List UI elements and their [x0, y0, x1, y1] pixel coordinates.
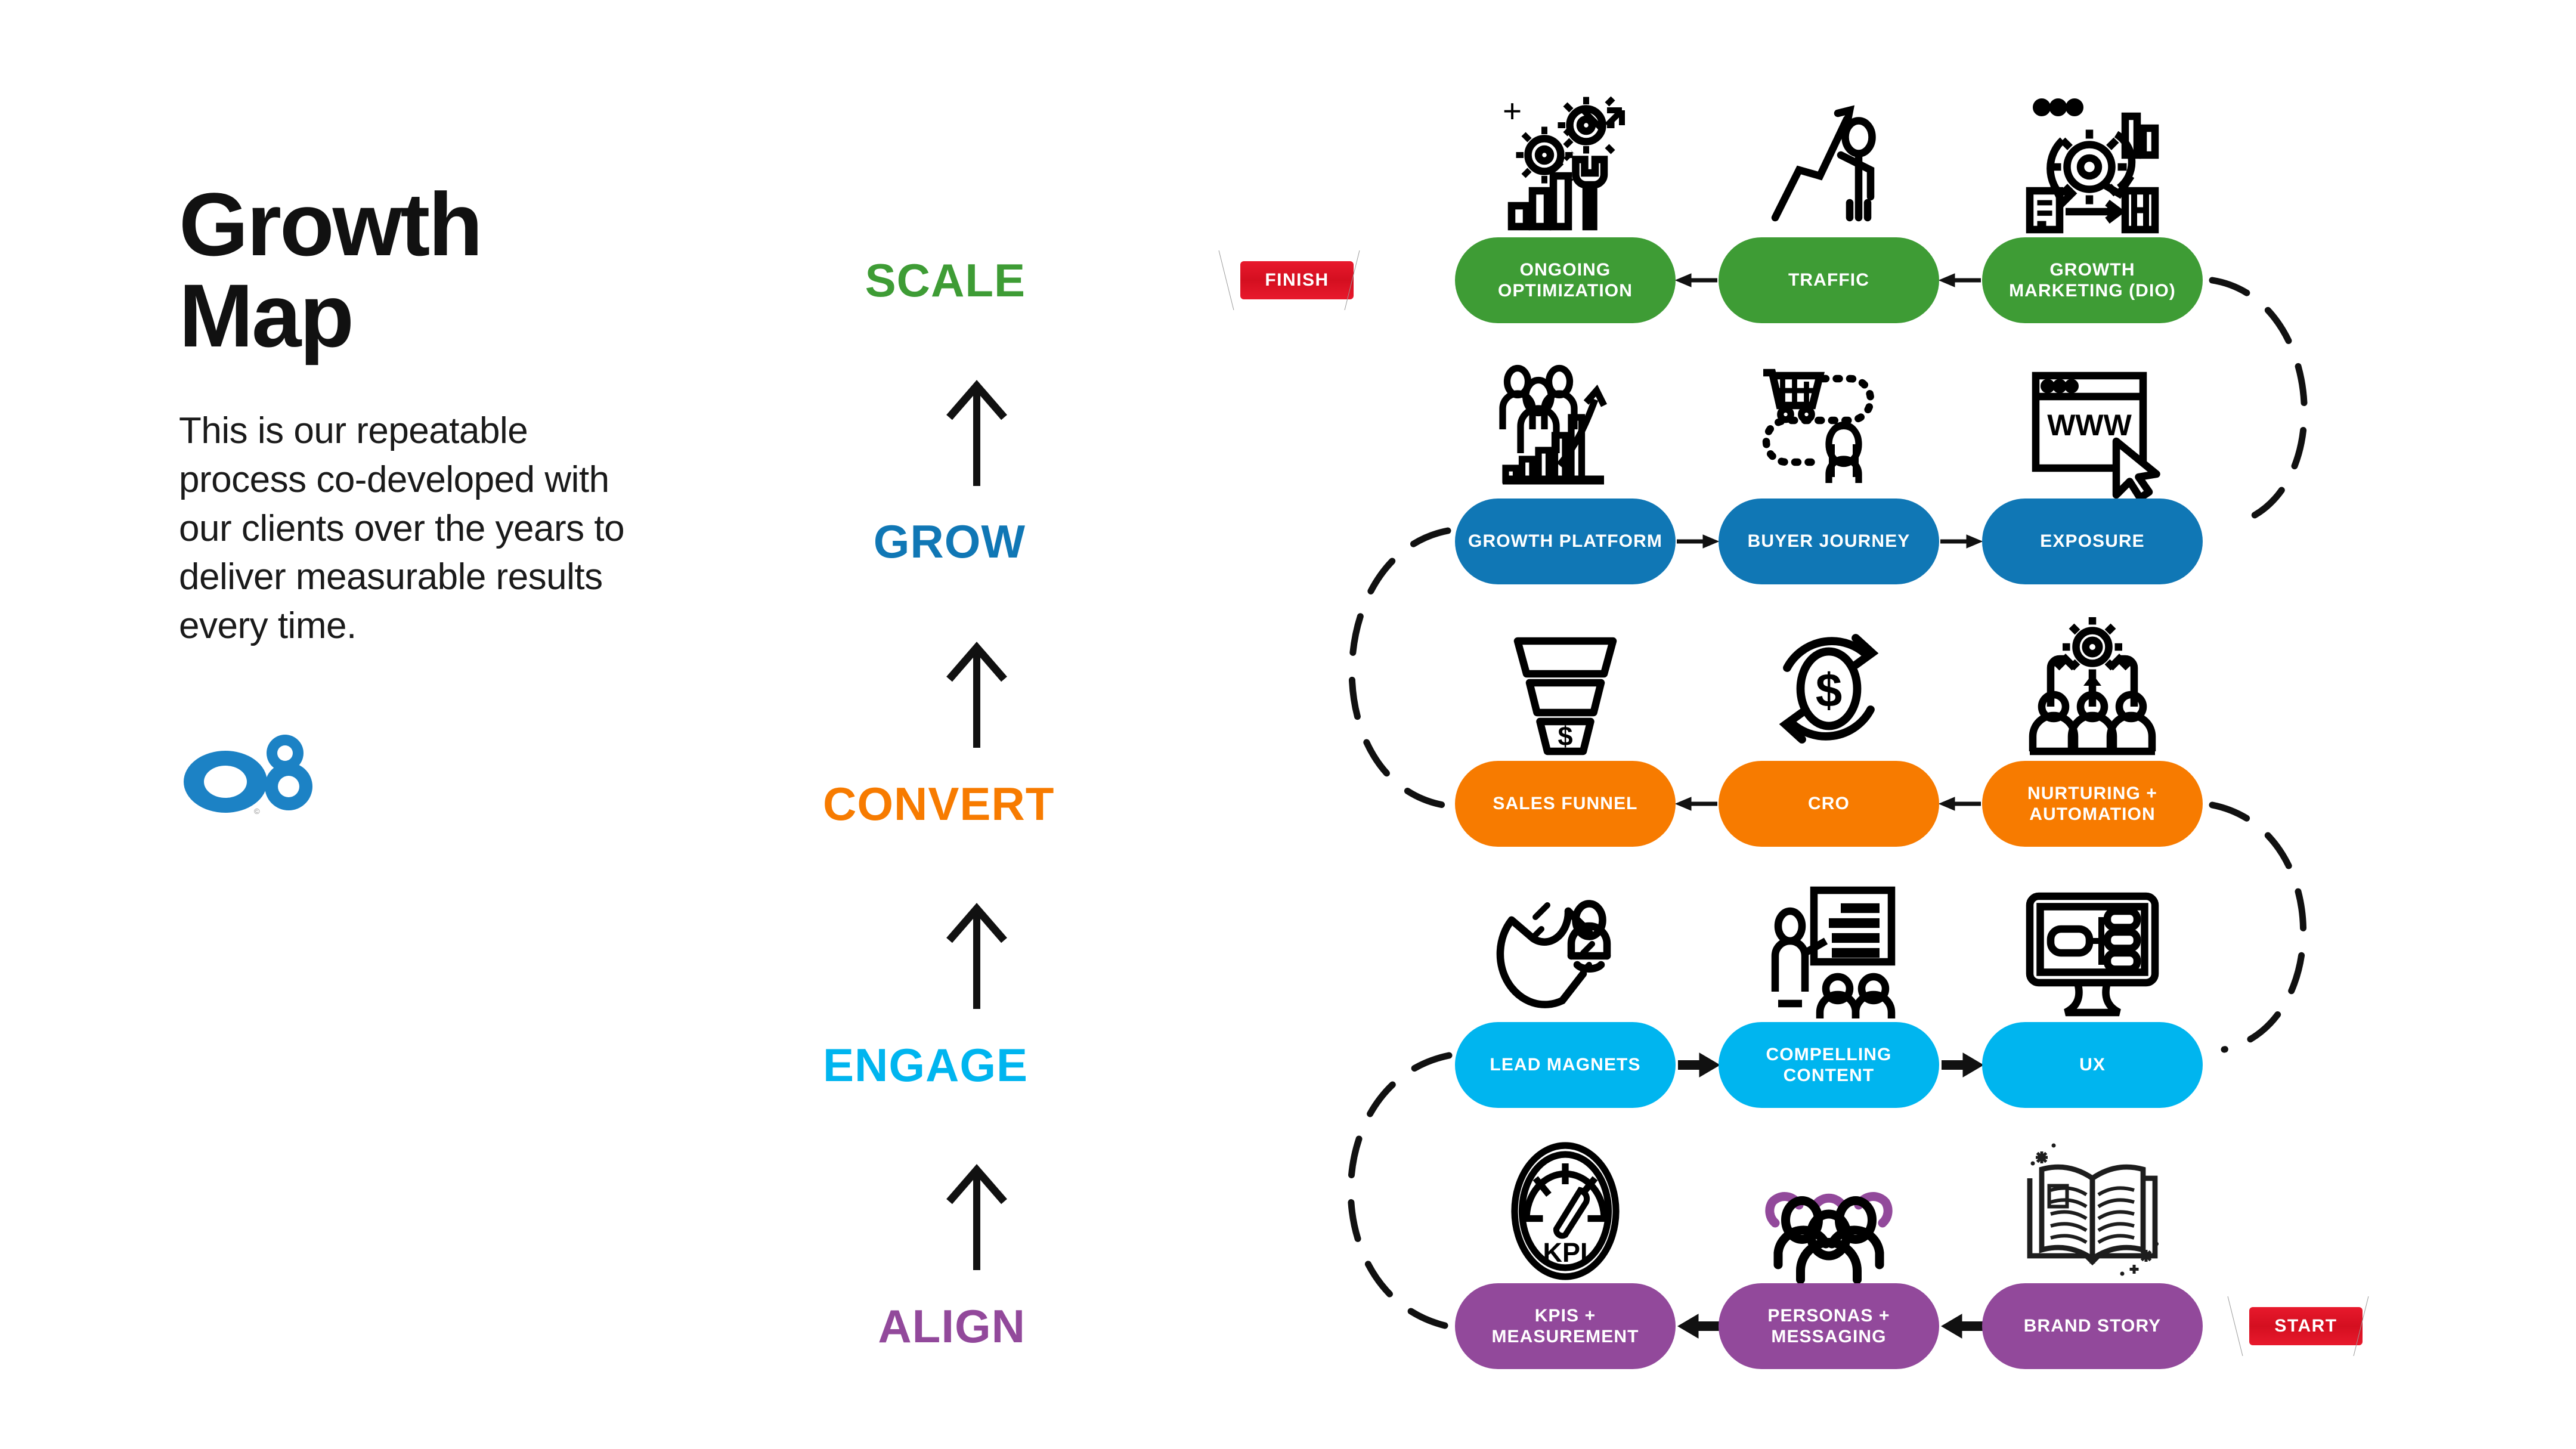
step-label: UX [2079, 1054, 2106, 1075]
step-pill-growth-marketing[interactable]: GROWTH MARKETING (DIO) [1982, 237, 2203, 323]
icon-row-convert: $ $ [823, 614, 2576, 763]
step-label: SALES FUNNEL [1493, 793, 1637, 814]
finish-banner-label: FINISH [1265, 270, 1329, 290]
magnet-person-icon [1491, 875, 1640, 1024]
step-label: PERSONAS + MESSAGING [1729, 1305, 1928, 1348]
open-book-sparkle-icon [2018, 1137, 2167, 1286]
gear-cycle-data-icon [2018, 89, 2167, 239]
start-banner: START [2249, 1307, 2363, 1345]
page-title: Growth Map [179, 179, 716, 361]
step-pill-kpis-measurement[interactable]: KPIS + MEASUREMENT [1455, 1283, 1676, 1369]
step-label: EXPOSURE [2040, 531, 2145, 552]
step-label: NURTURING + AUTOMATION [1993, 783, 2192, 825]
start-banner-label: START [2274, 1316, 2337, 1336]
person-climbing-arrow-icon [1754, 89, 1903, 239]
step-pill-traffic[interactable]: TRAFFIC [1719, 237, 1939, 323]
icon-row-engage [823, 875, 2576, 1024]
icon-row-scale: + [823, 89, 2576, 239]
intro-paragraph: This is our repeatable process co-develo… [179, 407, 656, 651]
finish-banner: FINISH [1240, 261, 1354, 299]
step-label: KPIS + MEASUREMENT [1466, 1305, 1665, 1348]
people-group-icon [1754, 1137, 1903, 1286]
svg-text:KPI: KPI [1543, 1237, 1587, 1268]
stage-row-scale: SCALE FINISH ONGOING OPTIMIZATION TRAFFI… [823, 221, 2576, 340]
stage-row-engage: ENGAGE LEAD MAGNETS COMPELLING CONTENT U… [823, 1005, 2576, 1125]
step-label: COMPELLING CONTENT [1729, 1044, 1928, 1086]
svg-text:$: $ [1816, 664, 1843, 717]
stage-label-engage: ENGAGE [823, 1005, 1026, 1125]
stage-label-align: ALIGN [823, 1267, 1026, 1386]
step-pill-brand-story[interactable]: BRAND STORY [1982, 1283, 2203, 1369]
step-label: CRO [1808, 793, 1850, 814]
o8-logo: © [179, 727, 328, 816]
step-label: LEAD MAGNETS [1490, 1054, 1640, 1075]
step-pill-exposure[interactable]: EXPOSURE [1982, 499, 2203, 584]
dollar-cycle-icon: $ [1754, 614, 1903, 763]
svg-text:+: + [1503, 92, 1522, 129]
icon-row-align: KPI [823, 1137, 2576, 1286]
sales-funnel-dollar-icon: $ [1491, 614, 1640, 763]
step-pill-ux[interactable]: UX [1982, 1022, 2203, 1108]
gears-chart-wrench-icon: + [1491, 89, 1640, 239]
people-gear-automation-icon [2018, 614, 2167, 763]
step-label: BRAND STORY [2024, 1315, 2161, 1336]
stage-row-grow: GROW GROWTH PLATFORM BUYER JOURNEY EXPOS… [823, 482, 2576, 601]
step-pill-lead-magnets[interactable]: LEAD MAGNETS [1455, 1022, 1676, 1108]
step-pill-buyer-journey[interactable]: BUYER JOURNEY [1719, 499, 1939, 584]
step-pill-personas-messaging[interactable]: PERSONAS + MESSAGING [1719, 1283, 1939, 1369]
step-label: TRAFFIC [1788, 270, 1869, 290]
stage-row-convert: CONVERT SALES FUNNEL CRO NURTURING + AUT… [823, 744, 2576, 863]
presenter-board-audience-icon [1754, 875, 1903, 1024]
growth-map: + [823, 0, 2576, 1449]
stage-label-convert: CONVERT [823, 744, 1026, 863]
svg-text:WWW: WWW [2047, 408, 2132, 442]
monitor-sitemap-icon [2018, 875, 2167, 1024]
step-pill-sales-funnel[interactable]: SALES FUNNEL [1455, 761, 1676, 847]
kpi-gauge-icon: KPI [1491, 1137, 1640, 1286]
stage-label-grow: GROW [823, 482, 1026, 601]
svg-text:©: © [254, 807, 260, 816]
step-pill-growth-platform[interactable]: GROWTH PLATFORM [1455, 499, 1676, 584]
step-label: GROWTH MARKETING (DIO) [1993, 259, 2192, 302]
step-label: BUYER JOURNEY [1748, 531, 1911, 552]
step-label: GROWTH PLATFORM [1468, 531, 1662, 552]
step-pill-compelling-content[interactable]: COMPELLING CONTENT [1719, 1022, 1939, 1108]
step-pill-nurturing-automation[interactable]: NURTURING + AUTOMATION [1982, 761, 2203, 847]
www-browser-cursor-icon: WWW [2018, 352, 2167, 501]
step-pill-cro[interactable]: CRO [1719, 761, 1939, 847]
people-growth-chart-icon [1491, 352, 1640, 501]
step-pill-ongoing-optimization[interactable]: ONGOING OPTIMIZATION [1455, 237, 1676, 323]
stage-label-scale: SCALE [823, 221, 1026, 340]
cart-journey-person-icon [1754, 352, 1903, 501]
left-panel: Growth Map This is our repeatable proces… [179, 179, 716, 816]
step-label: ONGOING OPTIMIZATION [1466, 259, 1665, 302]
icon-row-grow: WWW [823, 352, 2576, 501]
stage-row-align: ALIGN KPIS + MEASUREMENT PERSONAS + MESS… [823, 1267, 2576, 1386]
